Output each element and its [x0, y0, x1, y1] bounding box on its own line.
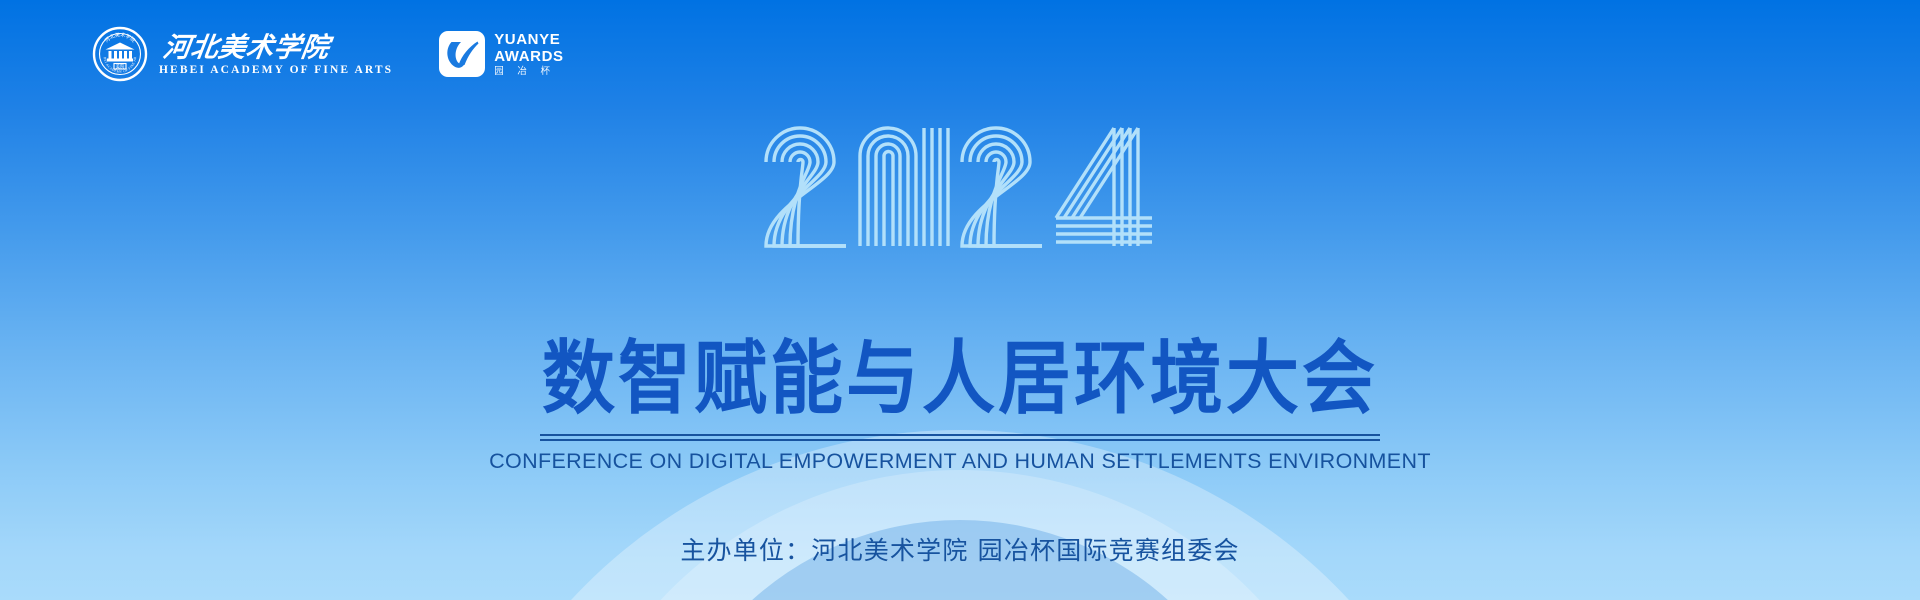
divider-line-1 [540, 434, 1380, 436]
organizer-line: 主办单位：河北美术学院 园冶杯国际竞赛组委会 [0, 531, 1920, 567]
subtitle-en: CONFERENCE ON DIGITAL EMPOWERMENT AND HU… [0, 449, 1920, 474]
title-block: 数智赋能与人居环境大会 CONFERENCE ON DIGITAL EMPOWE… [0, 338, 1920, 474]
yuanye-line3-cn: 园 冶 杯 [494, 67, 563, 77]
svg-text:河北美术学院: 河北美术学院 [161, 32, 335, 62]
yuanye-line1: YUANYE [494, 32, 563, 47]
svg-text:美院: 美院 [116, 63, 125, 70]
conference-banner: 美院 河北美术学院 HEBEI ACADEMY OF FINE ARTS 河北美… [0, 0, 1920, 600]
year-graphic [0, 118, 1920, 253]
title-divider [540, 434, 1380, 441]
divider-line-2 [540, 439, 1380, 441]
yuanye-line2: AWARDS [494, 49, 563, 64]
hebei-name-en: HEBEI ACADEMY OF FINE ARTS [159, 65, 393, 77]
main-title: 数智赋能与人居环境大会 [0, 338, 1920, 421]
hebei-wordmark: 河北美术学院 HEBEI ACADEMY OF FINE ARTS [159, 32, 393, 77]
hebei-name-cn-icon: 河北美术学院 [159, 32, 363, 62]
year-2024-striped-icon [760, 118, 1160, 253]
yuanye-leaf-mark-icon [439, 31, 485, 77]
yuanye-wordmark: YUANYE AWARDS 园 冶 杯 [494, 32, 563, 77]
logo-bar: 美院 河北美术学院 HEBEI ACADEMY OF FINE ARTS 河北美… [92, 26, 564, 82]
logo-hebei-academy[interactable]: 美院 河北美术学院 HEBEI ACADEMY OF FINE ARTS 河北美… [92, 26, 393, 82]
logo-yuanye-awards[interactable]: YUANYE AWARDS 园 冶 杯 [439, 31, 563, 77]
circular-gate-emblem-icon: 美院 河北美术学院 HEBEI ACADEMY OF FINE ARTS [92, 26, 148, 82]
